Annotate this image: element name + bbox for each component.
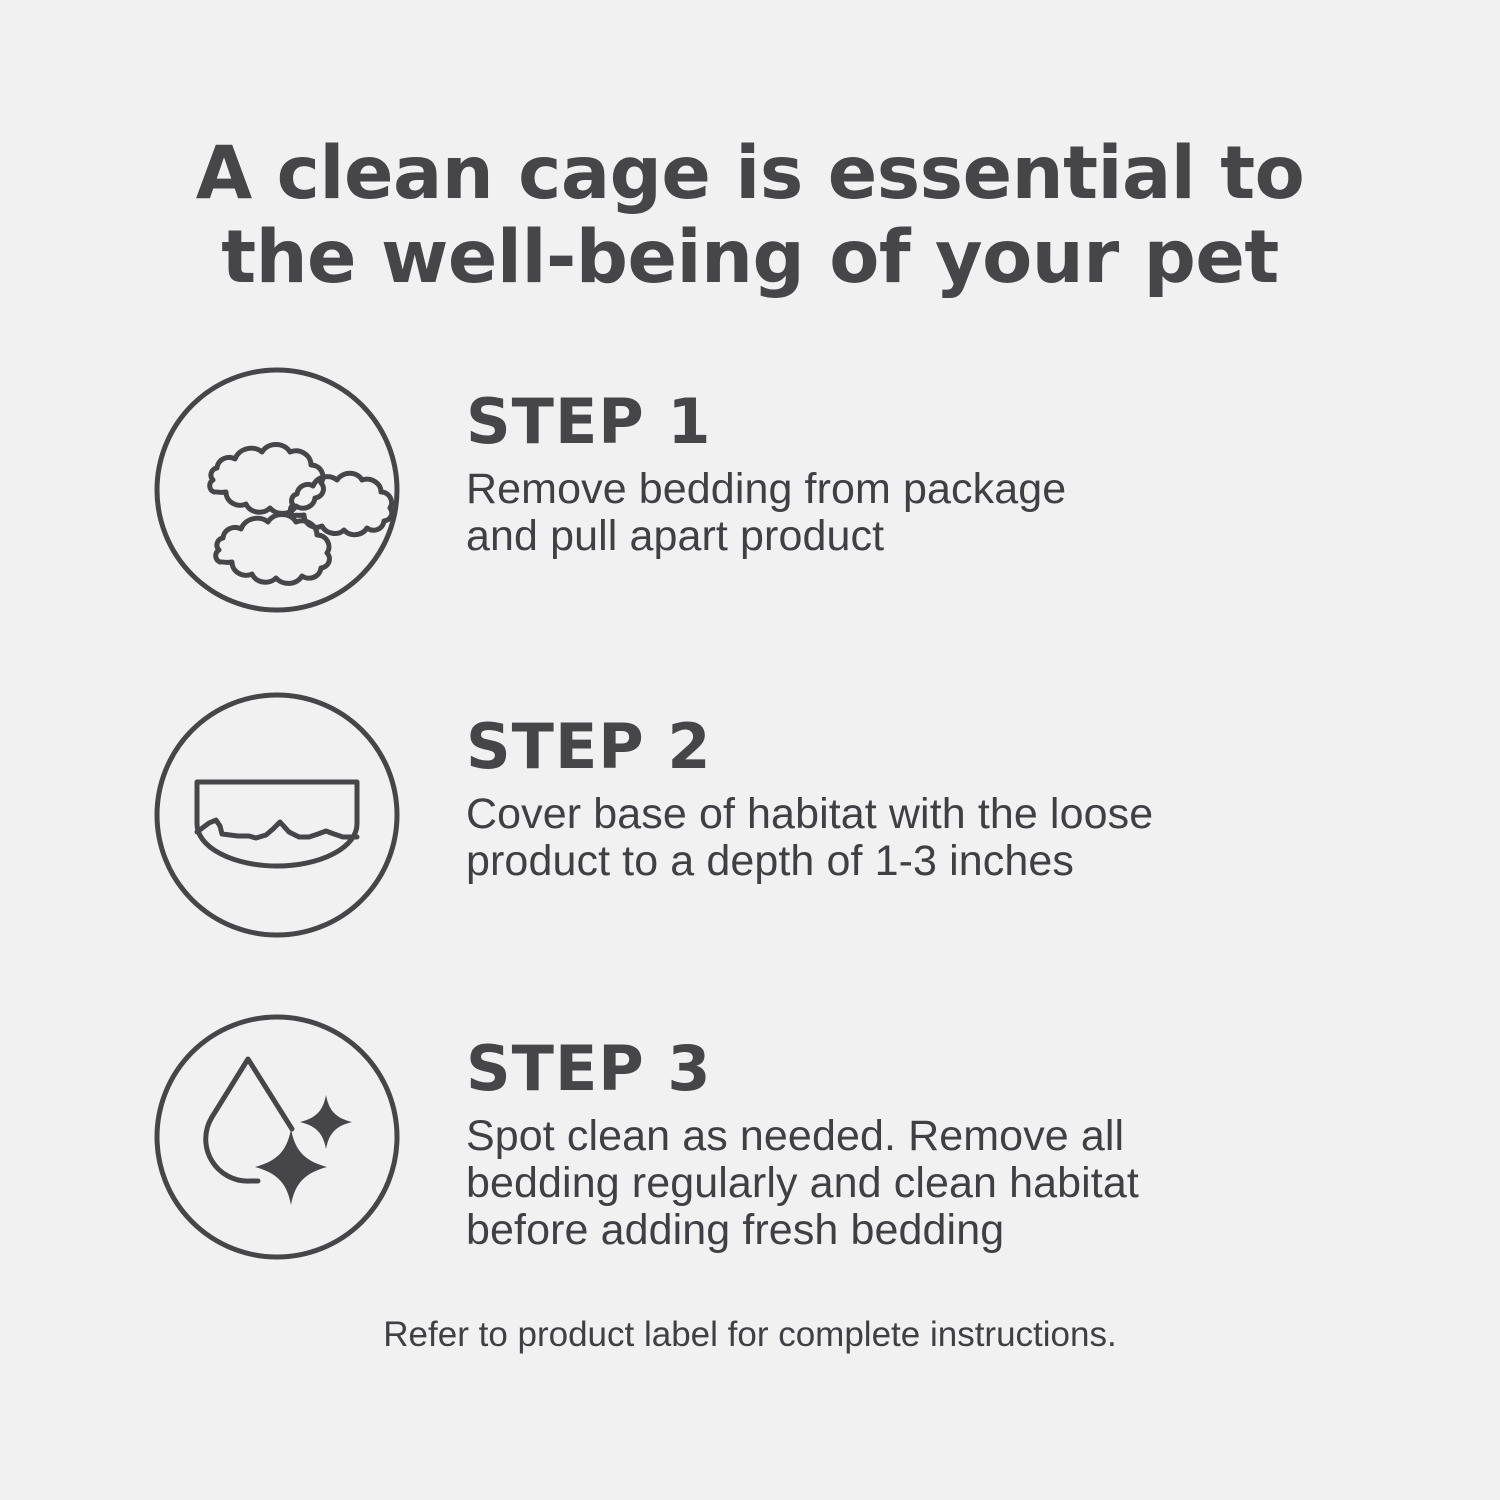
step-title-2: STEP 2	[466, 715, 1500, 779]
page-title: A clean cage is essential to the well-be…	[0, 132, 1500, 300]
droplet-sparkle-icon	[152, 1007, 404, 1263]
step-item-3: STEP 3 Spot clean as needed. Remove all …	[0, 1007, 1500, 1277]
step-body-2: Cover base of habitat with the loose pro…	[466, 791, 1500, 885]
step-body-3: Spot clean as needed. Remove all bedding…	[466, 1113, 1500, 1254]
footer-note: Refer to product label for complete inst…	[0, 1315, 1500, 1355]
step-title-1: STEP 1	[466, 390, 1500, 454]
instruction-panel: A clean cage is essential to the well-be…	[0, 0, 1500, 1500]
steps-list: STEP 1 Remove bedding from package and p…	[0, 360, 1500, 1277]
bedding-clumps-icon	[152, 360, 404, 616]
habitat-base-icon	[152, 685, 404, 941]
step-title-3: STEP 3	[466, 1037, 1500, 1101]
step-item-2: STEP 2 Cover base of habitat with the lo…	[0, 685, 1500, 1007]
step-body-1: Remove bedding from package and pull apa…	[466, 466, 1500, 560]
step-item-1: STEP 1 Remove bedding from package and p…	[0, 360, 1500, 685]
step-text-1: STEP 1 Remove bedding from package and p…	[404, 360, 1500, 560]
step-text-2: STEP 2 Cover base of habitat with the lo…	[404, 685, 1500, 885]
step-text-3: STEP 3 Spot clean as needed. Remove all …	[404, 1007, 1500, 1254]
